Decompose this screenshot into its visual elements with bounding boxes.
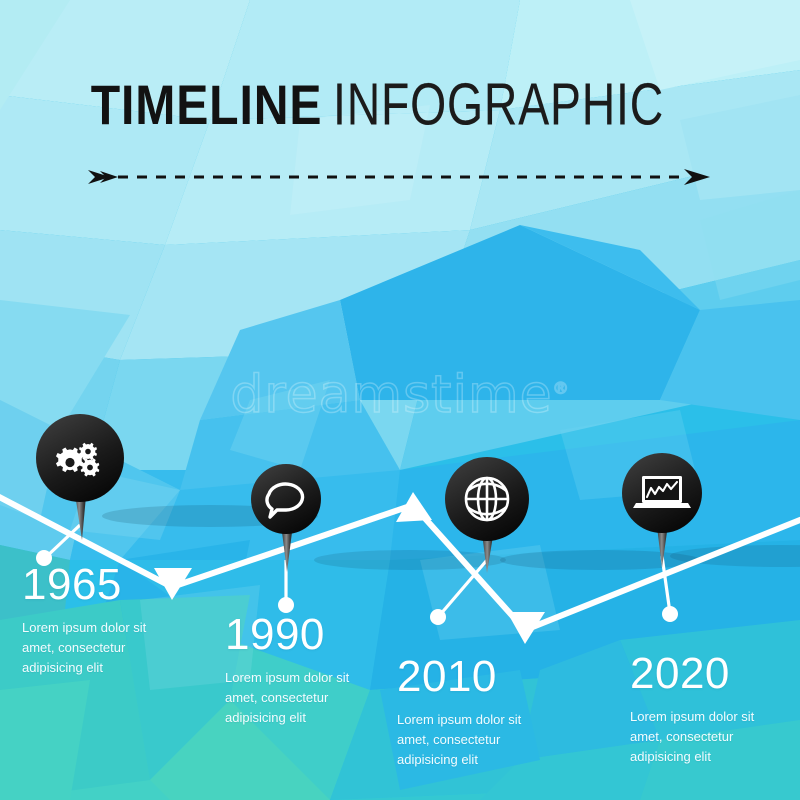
entry-blurb-2020: Lorem ipsum dolor sit amet, consectetur … (630, 707, 780, 766)
entry-blurb-1965: Lorem ipsum dolor sit amet, consectetur … (22, 618, 172, 677)
pin-head (251, 464, 321, 534)
timeline-infographic-poster: dreamstime® TIMELINEINFOGRAPHIC (0, 0, 800, 800)
timeline-pin-1965[interactable] (32, 412, 128, 544)
timeline-entry-2010: 2010 Lorem ipsum dolor sit amet, consect… (397, 655, 547, 769)
entry-year-1990: 1990 (225, 613, 375, 657)
timeline-pin-2010[interactable] (439, 455, 543, 581)
timeline-entry-1990: 1990 Lorem ipsum dolor sit amet, consect… (225, 613, 375, 727)
pin-2010-graphic (439, 455, 543, 581)
entry-year-2010: 2010 (397, 655, 547, 699)
entry-year-1965: 1965 (22, 563, 172, 607)
pin-1990-graphic (238, 460, 334, 580)
leader-dot-2010 (430, 609, 446, 625)
entry-blurb-1990: Lorem ipsum dolor sit amet, consectetur … (225, 668, 375, 727)
timeline-pin-2020[interactable] (615, 452, 715, 576)
leader-dot-2020 (662, 606, 678, 622)
pin-1965-graphic (32, 412, 128, 544)
entry-year-2020: 2020 (630, 652, 780, 696)
globe-icon (466, 478, 508, 520)
timeline-entry-2020: 2020 Lorem ipsum dolor sit amet, consect… (630, 652, 780, 766)
pin-2020-graphic (615, 452, 715, 576)
timeline-pin-1990[interactable] (238, 460, 334, 580)
timeline-entry-1965: 1965 Lorem ipsum dolor sit amet, consect… (22, 563, 172, 677)
entry-blurb-2010: Lorem ipsum dolor sit amet, consectetur … (397, 710, 547, 769)
zigzag-marker-down-2 (507, 612, 545, 644)
